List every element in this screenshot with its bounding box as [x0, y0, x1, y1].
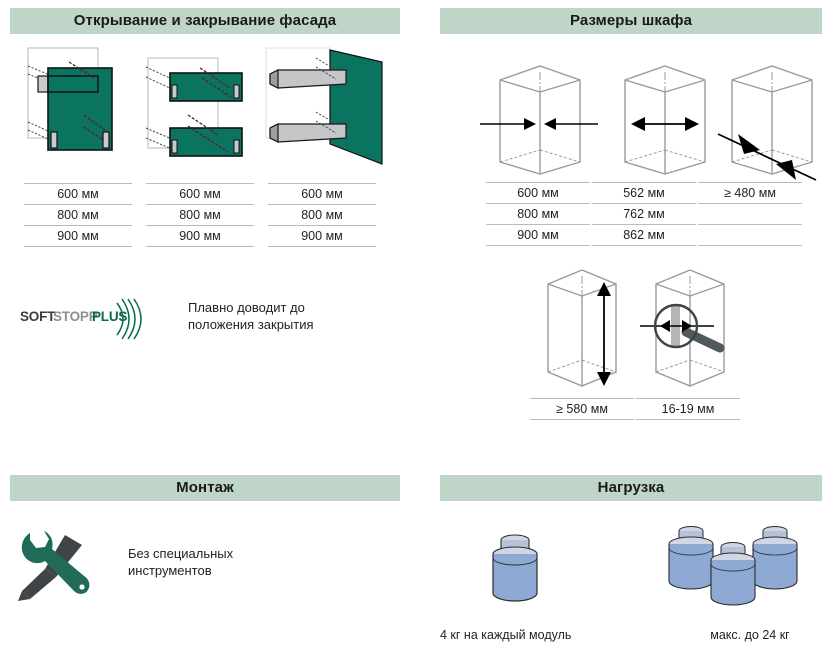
- load-section-title: Нагрузка: [440, 475, 822, 501]
- load-section: Нагрузка 4 кг на каждый модуль: [440, 475, 822, 667]
- table-cell: 16-19 мм: [636, 399, 740, 420]
- diagram-bi-fold-flap: [142, 40, 260, 175]
- cabinet-diagram-row-top: [440, 40, 822, 180]
- diagram-cabinet-depth: [716, 62, 831, 187]
- logo-text-stopp: STOPP: [53, 309, 98, 324]
- cabinet-height-table: ≥ 580 мм: [530, 398, 634, 420]
- table-cell: 900 мм: [24, 226, 132, 247]
- facade-widths-table-2: 600 мм 800 мм 900 мм: [146, 183, 254, 247]
- table-cell: 900 мм: [268, 226, 376, 247]
- soft-stopp-plus-logo: SOFT STOPP PLUS: [18, 295, 148, 343]
- diagram-inner-width: [603, 62, 713, 180]
- facade-tables-row: 600 мм 800 мм 900 мм 600 мм 800 мм 900 м…: [10, 183, 400, 251]
- table-cell: 562 мм: [592, 183, 696, 204]
- soft-stopp-description-line1: Плавно доводит до: [188, 299, 388, 316]
- mounting-description-line1: Без специальных: [128, 545, 328, 562]
- mounting-content: Без специальных инструментов: [10, 519, 400, 639]
- load-content: 4 кг на каждый модуль: [440, 517, 822, 667]
- multiple-weights-caption: макс. до 24 кг: [660, 627, 831, 643]
- table-cell: ≥ 480 мм: [698, 183, 802, 204]
- table-cell: 600 мм: [486, 183, 590, 204]
- table-cell: 600 мм: [268, 184, 376, 205]
- cabinet-inner-width-table: 562 мм 762 мм 862 мм: [592, 182, 696, 246]
- mounting-section: Монтаж Без специальных инструментов: [10, 475, 400, 639]
- table-cell: 862 мм: [592, 225, 696, 246]
- cabinet-section-title: Размеры шкафа: [440, 8, 822, 34]
- multiple-weights-icon: [655, 517, 815, 617]
- table-cell-empty: [698, 204, 802, 225]
- cabinet-section: Размеры шкафа: [440, 8, 822, 424]
- diagram-outer-width: [478, 62, 600, 180]
- table-cell: 900 мм: [146, 226, 254, 247]
- table-cell-empty: [698, 225, 802, 246]
- table-cell: 900 мм: [486, 225, 590, 246]
- diagram-cabinet-height: [532, 266, 632, 394]
- mounting-description-line2: инструментов: [128, 562, 328, 579]
- diagram-pull-out-front: [264, 40, 400, 175]
- cabinet-diagram-row-bottom: [440, 266, 822, 396]
- table-cell: 600 мм: [146, 184, 254, 205]
- table-cell: 762 мм: [592, 204, 696, 225]
- cabinet-tables-row-top: 600 мм 800 мм 900 мм 562 мм 762 мм 862 м…: [440, 182, 822, 250]
- weight-back-right: [753, 527, 797, 590]
- table-cell: 800 мм: [24, 205, 132, 226]
- diagram-single-flap-up: [10, 40, 140, 175]
- cabinet-tables-row-bottom: ≥ 580 мм 16-19 мм: [440, 398, 822, 424]
- single-weight-icon: [480, 527, 550, 611]
- facade-widths-table-3: 600 мм 800 мм 900 мм: [268, 183, 376, 247]
- weight-back-left: [669, 527, 713, 590]
- diagram-panel-thickness: [640, 266, 760, 394]
- logo-text-soft: SOFT: [20, 309, 56, 324]
- table-cell: 800 мм: [486, 204, 590, 225]
- soft-stopp-feature: SOFT STOPP PLUS Плавно доводит до положе…: [10, 289, 400, 359]
- soft-stopp-description-line2: положения закрытия: [188, 316, 388, 333]
- facade-diagram-row: [10, 40, 400, 175]
- weight-front-center: [711, 543, 755, 606]
- facade-section-title: Открывание и закрывание фасада: [10, 8, 400, 34]
- panel-thickness-table: 16-19 мм: [636, 398, 740, 420]
- mounting-description: Без специальных инструментов: [128, 545, 328, 579]
- mounting-section-title: Монтаж: [10, 475, 400, 501]
- cabinet-depth-table: ≥ 480 мм: [698, 182, 802, 246]
- table-cell: 800 мм: [146, 205, 254, 226]
- table-cell: 600 мм: [24, 184, 132, 205]
- facade-widths-table-1: 600 мм 800 мм 900 мм: [24, 183, 132, 247]
- tools-icon: [16, 529, 92, 601]
- table-cell: 800 мм: [268, 205, 376, 226]
- cabinet-outer-width-table: 600 мм 800 мм 900 мм: [486, 182, 590, 246]
- table-cell: ≥ 580 мм: [530, 399, 634, 420]
- facade-section: Открывание и закрывание фасада: [10, 8, 400, 359]
- soft-stopp-description: Плавно доводит до положения закрытия: [188, 299, 388, 333]
